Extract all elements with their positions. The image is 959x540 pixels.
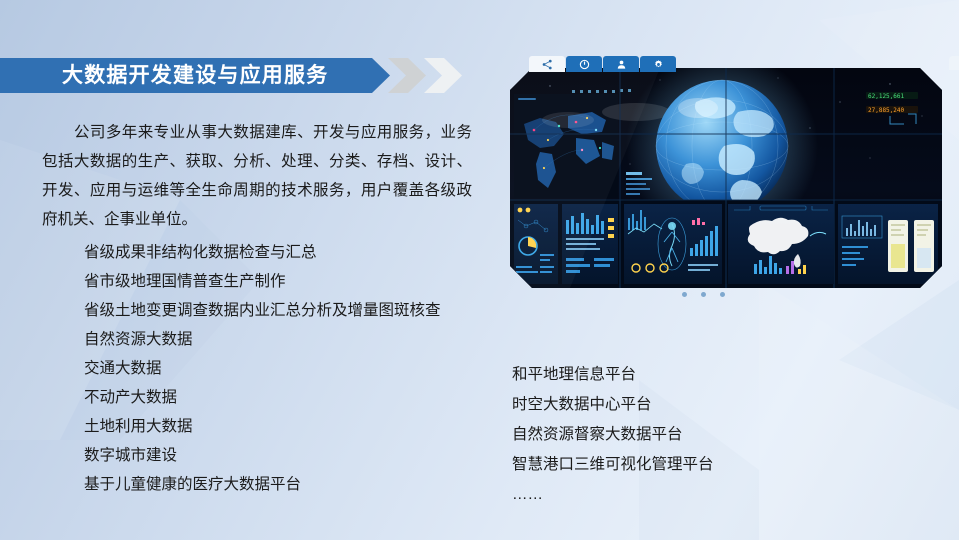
- gear-icon[interactable]: [640, 56, 676, 72]
- carousel-dot[interactable]: [720, 292, 725, 297]
- carousel-dot[interactable]: [701, 292, 706, 297]
- list-item: 和平地理信息平台: [512, 360, 872, 390]
- slide-canvas: 大数据开发建设与应用服务 公司多年来专业从事大数据建库、开发与应用服务，业务包括…: [0, 0, 959, 540]
- list-item: 省级成果非结构化数据检查与汇总: [84, 238, 484, 267]
- list-item: 省市级地理国情普查生产制作: [84, 267, 484, 296]
- video-wall-image: 62,125,661 27,885,240: [510, 68, 942, 288]
- carousel-dots[interactable]: [682, 292, 725, 297]
- list-item: 基于儿童健康的医疗大数据平台: [84, 470, 484, 499]
- list-item: 数字城市建设: [84, 441, 484, 470]
- platform-list-right: 和平地理信息平台 时空大数据中心平台 自然资源督察大数据平台 智慧港口三维可视化…: [512, 360, 872, 510]
- list-item: 交通大数据: [84, 354, 484, 383]
- list-item: 省级土地变更调查数据内业汇总分析及增量图斑核查: [84, 296, 484, 325]
- intro-paragraph: 公司多年来专业从事大数据建库、开发与应用服务，业务包括大数据的生产、获取、分析、…: [42, 118, 472, 234]
- photo-tab-strip: [529, 56, 676, 72]
- carousel-dot[interactable]: [682, 292, 687, 297]
- list-item: 自然资源大数据: [84, 325, 484, 354]
- title-chevron-1: [388, 58, 426, 93]
- control-room-photo: 62,125,661 27,885,240: [504, 56, 951, 304]
- page-title: 大数据开发建设与应用服务: [62, 58, 328, 93]
- list-item: 土地利用大数据: [84, 412, 484, 441]
- svg-text:27,885,240: 27,885,240: [868, 107, 905, 114]
- list-item: 智慧港口三维可视化管理平台: [512, 450, 872, 480]
- list-item: 自然资源督察大数据平台: [512, 420, 872, 450]
- title-chevron-2: [424, 58, 462, 93]
- list-item: 不动产大数据: [84, 383, 484, 412]
- dashboard-icon[interactable]: [566, 56, 602, 72]
- section-title-banner: 大数据开发建设与应用服务: [0, 58, 420, 93]
- list-item: ……: [512, 480, 872, 510]
- photo-tab-placeholder: [949, 56, 959, 70]
- share-nodes-icon[interactable]: [529, 56, 565, 72]
- service-list-left: 省级成果非结构化数据检查与汇总 省市级地理国情普查生产制作 省级土地变更调查数据…: [84, 238, 484, 499]
- user-icon[interactable]: [603, 56, 639, 72]
- svg-text:62,125,661: 62,125,661: [868, 93, 905, 100]
- list-item: 时空大数据中心平台: [512, 390, 872, 420]
